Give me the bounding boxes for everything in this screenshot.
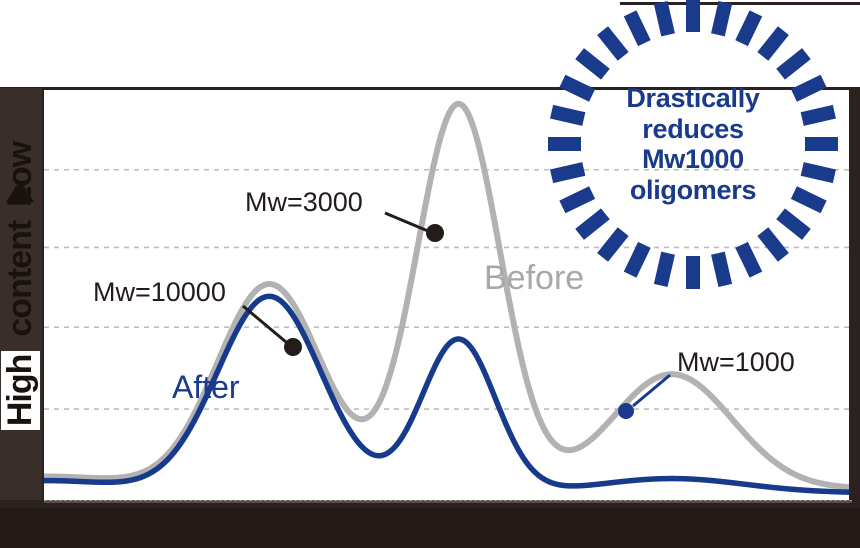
annotation-mw10000: Mw=10000 [93, 277, 226, 308]
series-label-after: After [172, 369, 240, 406]
annotation-mw1000: Mw=1000 [677, 347, 795, 378]
anchor-dot-mw3000 [426, 224, 444, 242]
starburst-badge-text: Drastically reduces Mw1000 oligomers [537, 0, 849, 300]
leader-line-mw10000 [243, 306, 286, 342]
badge-line-2: reduces [642, 114, 743, 145]
leader-line-mw1000 [633, 375, 670, 406]
badge-line-1: Drastically [626, 83, 759, 114]
leader-line-mw3000 [385, 213, 428, 231]
starburst-badge: Drastically reduces Mw1000 oligomers [537, 0, 849, 300]
figure-root: High content Low Mw=3000 Mw=10000 Mw=100… [0, 0, 860, 548]
annotation-mw3000: Mw=3000 [245, 187, 363, 218]
anchor-dot-mw10000 [284, 338, 302, 356]
badge-line-4: oligomers [630, 175, 756, 206]
anchor-dot-mw1000 [618, 403, 634, 419]
badge-line-3: Mw1000 [642, 144, 744, 175]
